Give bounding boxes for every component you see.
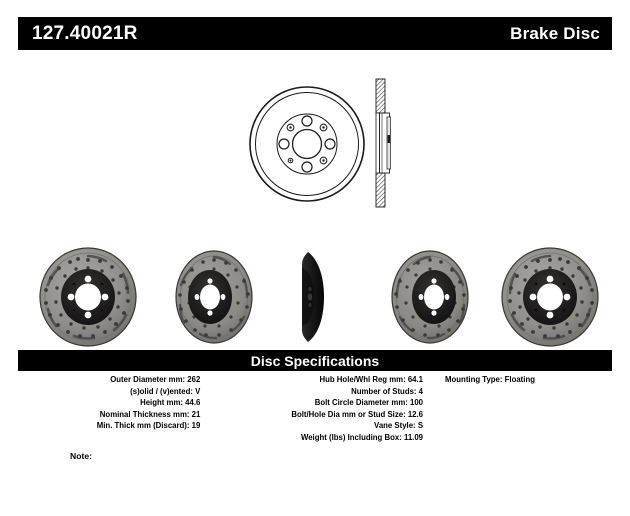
spec-row: (s)olid / (v)ented: V [18, 386, 200, 398]
spec-column-right: Mounting Type: Floating [427, 374, 612, 386]
spec-row: Nominal Thickness mm: 21 [18, 409, 200, 421]
drilled-slotted-rotor-angled-mirrored-photo [378, 249, 486, 345]
drilled-slotted-rotor-front-mirrored-photo [490, 247, 610, 347]
spec-row: Vane Style: S [202, 420, 423, 432]
part-number: 127.40021R [32, 24, 138, 43]
header-bar: 127.40021R Brake Disc [18, 17, 612, 50]
product-type: Brake Disc [510, 25, 600, 42]
note-section: Note: [18, 450, 612, 462]
spec-column-left: Outer Diameter mm: 262 (s)olid / (v)ente… [18, 374, 202, 432]
spec-row: Outer Diameter mm: 262 [18, 374, 200, 386]
spec-row: Bolt/Hole Dia mm or Stud Size: 12.6 [202, 409, 423, 421]
spec-row: Mounting Type: Floating [445, 374, 612, 386]
rotor-cross-section-line-drawing [372, 73, 398, 213]
spec-column-middle: Hub Hole/Whl Reg mm: 64.1 Number of Stud… [202, 374, 427, 444]
drilled-slotted-rotor-front-photo [28, 247, 148, 347]
disc-specifications-title: Disc Specifications [251, 354, 379, 368]
note-label: Note: [70, 450, 612, 462]
spec-row: Hub Hole/Whl Reg mm: 64.1 [202, 374, 423, 386]
spec-row: Number of Studs: 4 [202, 386, 423, 398]
spec-row: Weight (lbs) Including Box: 11.09 [202, 432, 423, 444]
rotor-face-line-drawing [248, 85, 366, 203]
disc-specifications-bar: Disc Specifications [18, 350, 612, 371]
product-image-area [0, 55, 630, 345]
specifications-table: Outer Diameter mm: 262 (s)olid / (v)ente… [18, 374, 612, 444]
spec-row: Bolt Circle Diameter mm: 100 [202, 397, 423, 409]
spec-row: Height mm: 44.6 [18, 397, 200, 409]
drilled-slotted-rotor-angled-photo [158, 249, 266, 345]
spec-row: Min. Thick mm (Discard): 19 [18, 420, 200, 432]
rotor-edge-profile-photo [288, 248, 332, 346]
